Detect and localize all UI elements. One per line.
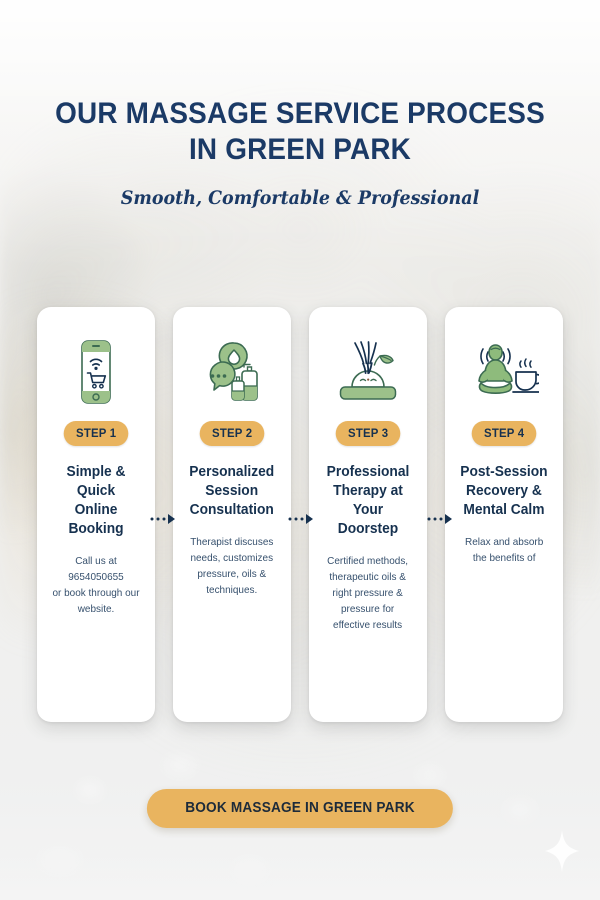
step-title-4-line-2: Recovery & [460, 482, 547, 501]
step-desc-2-line-3: pressure, oils & [190, 566, 273, 582]
step-badge-3: STEP 3 [336, 421, 401, 446]
step-desc-1: Call us at 9654050655 or book through ou… [47, 553, 146, 617]
step-title-1-line-2: Online [47, 501, 146, 520]
step-desc-3-line-3: right pressure & [328, 585, 409, 601]
header: OUR MASSAGE SERVICE PROCESS IN GREEN PAR… [0, 96, 600, 209]
step-title-2-line-2: Session [190, 482, 275, 501]
step-title-4: Post-Session Recovery & Mental Calm [460, 463, 547, 520]
step-title-1-line-1: Simple & Quick [47, 463, 146, 501]
step-badge-4: STEP 4 [472, 421, 537, 446]
step-desc-2-line-4: techniques. [190, 582, 273, 598]
step-desc-2-line-1: Therapist discuses [190, 534, 273, 550]
step-desc-3-line-5: effective results [328, 617, 409, 633]
step-title-4-line-3: Mental Calm [460, 501, 547, 520]
step-card-1[interactable]: STEP 1 Simple & Quick Online Booking Cal… [37, 307, 155, 722]
step-title-4-line-1: Post-Session [460, 463, 547, 482]
book-massage-button-label: BOOK MASSAGE IN GREEN PARK [185, 800, 415, 816]
step-desc-3-line-1: Certified methods, [328, 553, 409, 569]
step-card-2[interactable]: STEP 2 Personalized Session Consultation… [173, 307, 291, 722]
step-title-3-line-2: Therapy at Your [319, 482, 418, 520]
step-desc-1-line-2: or book through our [47, 585, 146, 601]
step-title-2: Personalized Session Consultation [190, 463, 275, 520]
consultation-chat-oils-icon [200, 329, 264, 415]
phone-booking-icon [74, 329, 118, 415]
step-desc-3-line-4: pressure for [328, 601, 409, 617]
step-desc-2-line-2: needs, customizes [190, 550, 273, 566]
step-desc-4: Relax and absorb the benefits of [465, 534, 543, 566]
step-desc-3: Certified methods, therapeutic oils & ri… [328, 553, 409, 633]
sparkle-icon [545, 830, 579, 872]
massage-hands-icon [333, 329, 403, 415]
step-desc-3-line-2: therapeutic oils & [328, 569, 409, 585]
step-desc-4-line-1: Relax and absorb [465, 534, 543, 550]
step-title-3: Professional Therapy at Your Doorstep [319, 463, 418, 539]
step-title-2-line-1: Personalized [190, 463, 275, 482]
infographic-canvas: OUR MASSAGE SERVICE PROCESS IN GREEN PAR… [0, 0, 600, 900]
step-badge-2: STEP 2 [200, 421, 265, 446]
step-title-3-line-3: Doorstep [319, 520, 418, 539]
process-steps-row: STEP 1 Simple & Quick Online Booking Cal… [0, 307, 600, 722]
step-title-3-line-1: Professional [319, 463, 418, 482]
step-card-3[interactable]: STEP 3 Professional Therapy at Your Door… [309, 307, 427, 722]
step-badge-1: STEP 1 [64, 421, 129, 446]
meditation-tea-icon [469, 329, 539, 415]
step-title-2-line-3: Consultation [190, 501, 275, 520]
step-desc-1-line-1: Call us at 9654050655 [47, 553, 146, 585]
page-title-line-1: OUR MASSAGE SERVICE PROCESS [21, 96, 579, 132]
step-title-1-line-3: Booking [47, 520, 146, 539]
page-subtitle: Smooth, Comfortable & Professional [24, 187, 576, 209]
step-card-4[interactable]: STEP 4 Post-Session Recovery & Mental Ca… [445, 307, 563, 722]
step-title-1: Simple & Quick Online Booking [47, 463, 146, 539]
step-desc-2: Therapist discuses needs, customizes pre… [190, 534, 273, 598]
step-desc-4-line-2: the benefits of [465, 550, 543, 566]
page-title-line-2: IN GREEN PARK [21, 132, 579, 168]
book-massage-button[interactable]: BOOK MASSAGE IN GREEN PARK [147, 789, 453, 828]
step-desc-1-line-3: website. [47, 601, 146, 617]
page-title: OUR MASSAGE SERVICE PROCESS IN GREEN PAR… [21, 96, 579, 168]
